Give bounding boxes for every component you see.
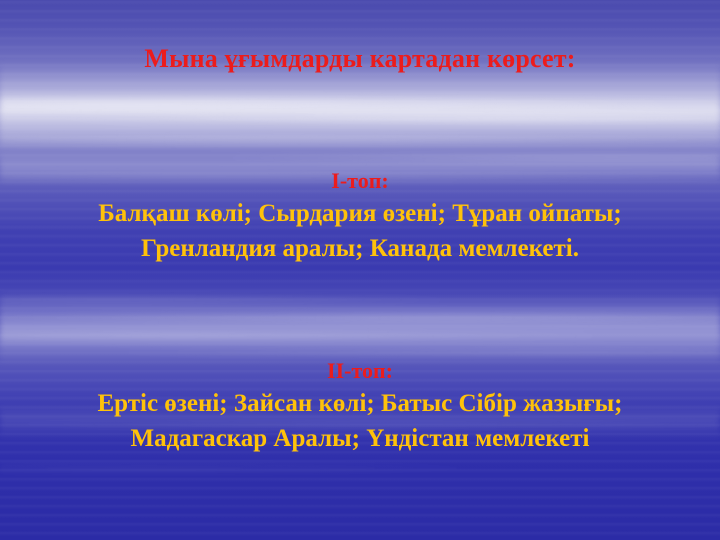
group-2-lines: Ертіс өзені; Зайсан көлі; Батыс Сібір жа… (0, 386, 720, 456)
group-2-line-1: Ертіс өзені; Зайсан көлі; Батыс Сібір жа… (6, 386, 714, 421)
group-1-heading: І-топ: (0, 166, 720, 196)
presentation-slide: Мына ұғымдарды картадан көрсет: І-топ: Б… (0, 0, 720, 540)
group-1-lines: Балқаш көлі; Сырдария өзені; Тұран ойпат… (0, 196, 720, 266)
group-block-2: ІІ-топ: Ертіс өзені; Зайсан көлі; Батыс … (0, 356, 720, 456)
slide-title: Мына ұғымдарды картадан көрсет: (0, 44, 720, 74)
slide-content: Мына ұғымдарды картадан көрсет: І-топ: Б… (0, 0, 720, 540)
group-1-line-1: Балқаш көлі; Сырдария өзені; Тұран ойпат… (6, 196, 714, 231)
group-2-heading: ІІ-топ: (0, 356, 720, 386)
group-2-line-2: Мадагаскар Аралы; Үндістан мемлекеті (6, 421, 714, 456)
group-1-line-2: Гренландия аралы; Канада мемлекеті. (6, 231, 714, 266)
group-block-1: І-топ: Балқаш көлі; Сырдария өзені; Тұра… (0, 166, 720, 266)
